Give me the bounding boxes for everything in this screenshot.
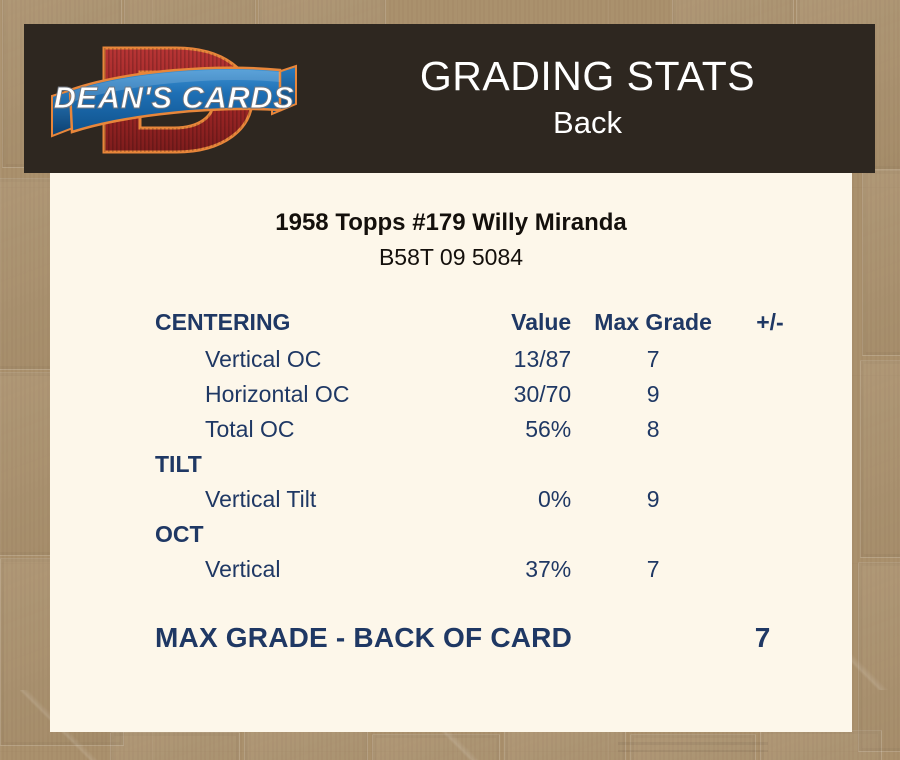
cell-grade: Max Grade [581, 305, 725, 342]
table-row: Vertical Tilt0%9 [155, 482, 815, 517]
table-row: Vertical OC13/877 [155, 342, 815, 377]
cell-pm [725, 482, 815, 517]
cell-grade [581, 447, 725, 482]
cell-pm [725, 517, 815, 552]
cell-label: Vertical Tilt [155, 482, 451, 517]
cell-grade: 8 [581, 412, 725, 447]
cell-pm [725, 552, 815, 587]
cell-grade: 9 [581, 482, 725, 517]
cell-grade: 7 [581, 552, 725, 587]
background-card-ghost [862, 170, 900, 356]
max-grade-label: MAX GRADE - BACK OF CARD [155, 622, 710, 654]
deans-cards-logo[interactable]: DEAN'S CARDS [48, 30, 300, 170]
table-section-row: OCT [155, 517, 815, 552]
cell-label: OCT [155, 517, 451, 552]
table-row: Total OC56%8 [155, 412, 815, 447]
cell-grade: 7 [581, 342, 725, 377]
cell-value [451, 517, 582, 552]
cell-grade: 9 [581, 377, 725, 412]
cell-value: 37% [451, 552, 582, 587]
cell-pm [725, 377, 815, 412]
card-title: 1958 Topps #179 Willy Miranda [50, 209, 852, 237]
header-bar: DEAN'S CARDS GRADING STATS Back [24, 24, 875, 173]
header-titles: GRADING STATS Back [300, 24, 875, 173]
page-title: GRADING STATS [420, 55, 755, 98]
cell-label: TILT [155, 447, 451, 482]
cell-label: Vertical [155, 552, 451, 587]
card-id: B58T 09 5084 [50, 244, 852, 271]
background-texture-accent [618, 742, 768, 745]
cell-value: 30/70 [451, 377, 582, 412]
stats-table-body: CENTERINGValueMax Grade+/-Vertical OC13/… [155, 305, 815, 587]
cell-label: Total OC [155, 412, 451, 447]
background-card-ghost [760, 730, 882, 760]
cell-pm: +/- [725, 305, 815, 342]
grading-stats-table: CENTERINGValueMax Grade+/-Vertical OC13/… [155, 305, 815, 587]
cell-label: Horizontal OC [155, 377, 451, 412]
cell-value: 56% [451, 412, 582, 447]
cell-value: Value [451, 305, 582, 342]
cell-grade [581, 517, 725, 552]
table-row: Vertical37%7 [155, 552, 815, 587]
max-grade-row: MAX GRADE - BACK OF CARD 7 [155, 622, 815, 654]
background-card-ghost [110, 732, 240, 760]
background-card-ghost [630, 734, 756, 760]
table-header-row: CENTERINGValueMax Grade+/- [155, 305, 815, 342]
stats-panel: 1958 Topps #179 Willy Miranda B58T 09 50… [50, 173, 852, 732]
background-texture-accent [618, 750, 768, 752]
cell-value: 13/87 [451, 342, 582, 377]
table-section-row: TILT [155, 447, 815, 482]
cell-pm [725, 342, 815, 377]
background-card-ghost [504, 728, 626, 760]
page-subtitle: Back [553, 104, 622, 143]
cell-value [451, 447, 582, 482]
cell-value: 0% [451, 482, 582, 517]
max-grade-value: 7 [710, 622, 815, 654]
cell-pm [725, 412, 815, 447]
cell-label: CENTERING [155, 305, 451, 342]
table-row: Horizontal OC30/709 [155, 377, 815, 412]
cell-pm [725, 447, 815, 482]
background-card-ghost [860, 360, 900, 558]
logo-banner-text: DEAN'S CARDS [54, 80, 295, 115]
cell-label: Vertical OC [155, 342, 451, 377]
